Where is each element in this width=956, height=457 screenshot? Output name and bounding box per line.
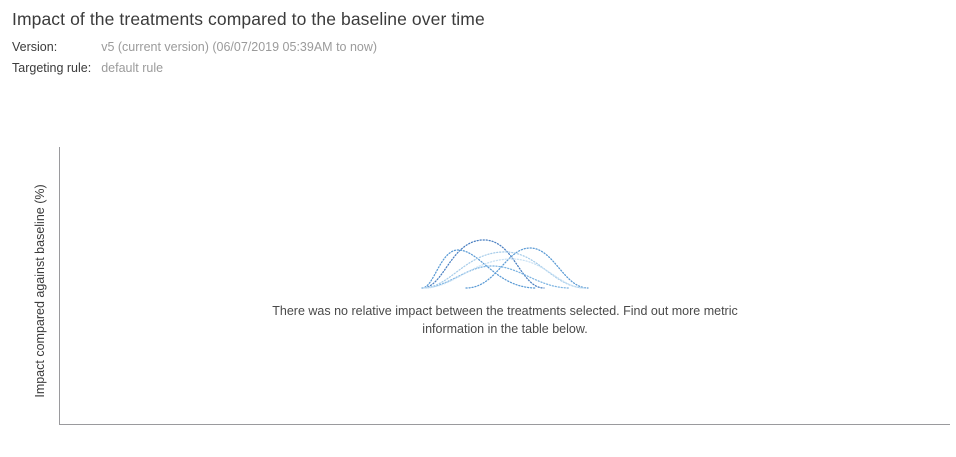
chart-empty-message: There was no relative impact between the… [270,302,740,338]
chart-empty-state: There was no relative impact between the… [60,222,950,338]
panel-header: Impact of the treatments compared to the… [12,0,942,82]
targeting-rule-label: Targeting rule: [12,61,101,82]
metadata-row-version: Version: v5 (current version) (06/07/201… [12,40,377,61]
metadata-table: Version: v5 (current version) (06/07/201… [12,40,377,82]
page-title: Impact of the treatments compared to the… [12,0,942,29]
chart-y-axis-line [59,147,60,424]
chart-y-axis-label: Impact compared against baseline (%) [33,177,47,405]
overlapping-distribution-curves-icon [420,222,590,294]
chart-x-axis-line [59,424,950,425]
version-value: v5 (current version) (06/07/2019 05:39AM… [101,40,377,61]
targeting-rule-value: default rule [101,61,377,82]
metadata-row-targeting-rule: Targeting rule: default rule [12,61,377,82]
version-label: Version: [12,40,101,61]
